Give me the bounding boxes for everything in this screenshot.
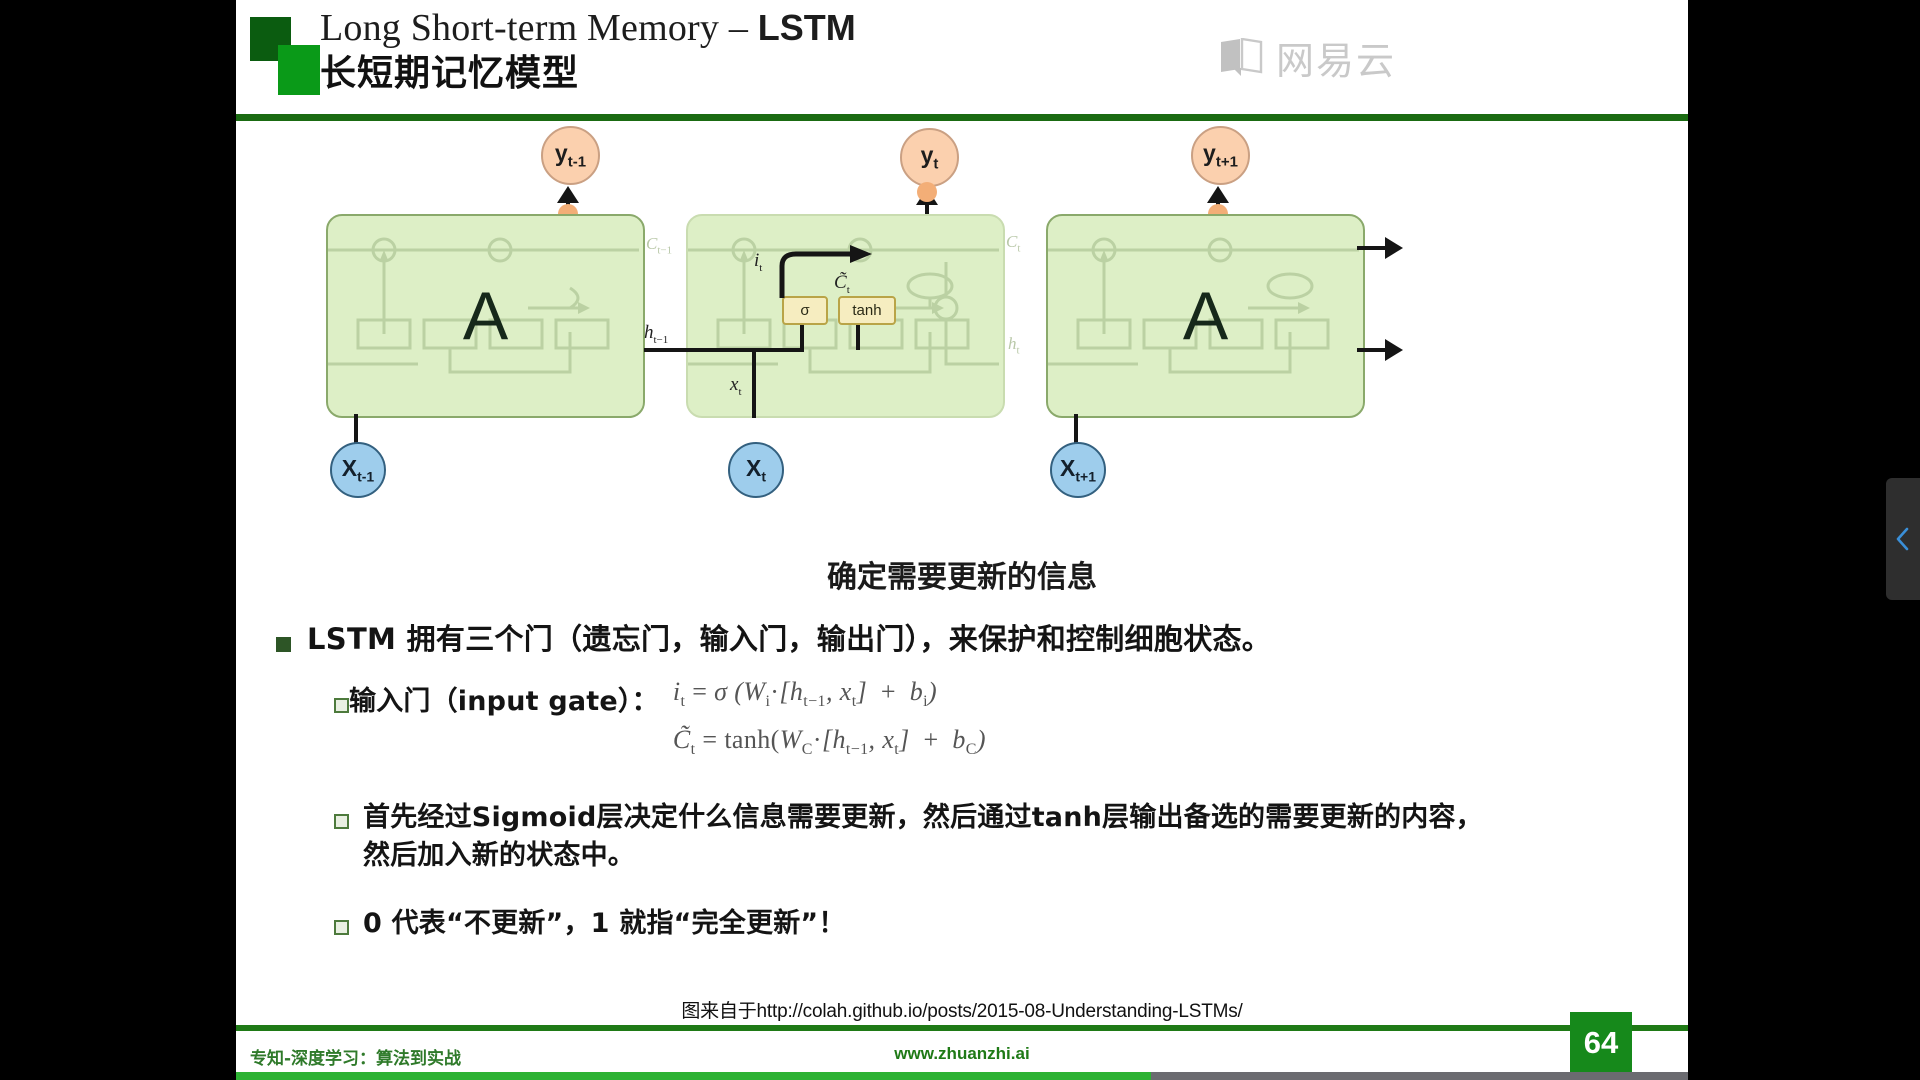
watermark-label: 网易云 — [1276, 30, 1396, 85]
label-i-t: it — [754, 250, 762, 274]
out-arrow-h — [1385, 339, 1403, 361]
line-x-t-plus-1 — [1074, 414, 1078, 444]
tanh-box-label: tanh — [852, 302, 881, 319]
label-c-tilde: C̃t — [834, 272, 850, 296]
watermark: 网易云 — [1218, 30, 1396, 85]
cell-label-t-plus-1: A — [1048, 216, 1363, 416]
logo-square-light — [278, 45, 320, 95]
arrow-up-y-t-1 — [557, 186, 579, 203]
output-node-label: yt — [921, 142, 939, 173]
header-divider — [236, 114, 1688, 121]
path-h-to-gate — [686, 348, 804, 352]
lstm-cell-t-1: A — [326, 214, 645, 418]
page-title-cn: 长短期记忆模型 — [320, 44, 579, 96]
join-dot-t — [917, 182, 937, 202]
progress-bar-track[interactable] — [236, 1072, 1688, 1080]
label-x-t: xt — [730, 374, 742, 398]
label-h-cur: ht — [1008, 334, 1020, 356]
lstm-diagram: yt-1 — [236, 126, 1688, 556]
bullet-zero-one: 0 代表“不更新”，1 就指“完全更新”！ — [334, 905, 1688, 943]
chevron-left-icon — [1895, 526, 1911, 552]
arrow-up-y-t-plus-1 — [1207, 186, 1229, 203]
input-node-label: Xt+1 — [1060, 455, 1096, 485]
bullet-square-icon — [276, 637, 291, 652]
path-x-down — [752, 366, 756, 418]
out-line-h — [1357, 348, 1385, 352]
slide-header: Long Short-term Memory – LSTM 长短期记忆模型 网易… — [236, 0, 1688, 122]
out-line-c — [1357, 246, 1385, 250]
label-c-prev: Ct−1 — [646, 234, 672, 256]
source-attribution: 图来自于http://colah.github.io/posts/2015-08… — [236, 996, 1688, 1023]
bullet-hollow-square-icon — [334, 920, 349, 935]
title-en-abbr: LSTM — [758, 7, 856, 48]
input-node-x-t-plus-1: Xt+1 — [1050, 442, 1106, 498]
input-node-label: Xt-1 — [342, 455, 374, 485]
output-node-label: yt+1 — [1203, 140, 1238, 171]
sidebar-toggle-handle[interactable] — [1886, 478, 1920, 600]
formula-i-t: it = σ (Wi·[ht−1, xt] + bi) — [673, 669, 986, 717]
bullet-hollow-square-icon — [334, 698, 349, 713]
output-node-y-t-1: yt-1 — [541, 126, 600, 185]
input-node-x-t-1: Xt-1 — [330, 442, 386, 498]
out-arrow-c — [1385, 237, 1403, 259]
slide-body: LSTM 拥有三个门（遗忘门，输入门，输出门），来保护和控制细胞状态。 输入门（… — [236, 620, 1688, 943]
bullet-hollow-square-icon — [334, 814, 349, 829]
bullet-input-gate-text: 输入门（input gate）： — [349, 683, 659, 721]
sigmoid-box-label: σ — [800, 302, 809, 319]
formula-group: it = σ (Wi·[ht−1, xt] + bi) C̃t = tanh(W… — [673, 669, 986, 765]
bullet-main: LSTM 拥有三个门（遗忘门，输入门，输出门），来保护和控制细胞状态。 — [276, 620, 1688, 659]
bullet-sigmoid-text: 首先经过Sigmoid层决定什么信息需要更新，然后通过tanh层输出备选的需要更… — [363, 799, 1504, 875]
formula-c-tilde: C̃t = tanh(WC·[ht−1, xt] + bC) — [673, 717, 986, 765]
title-en-text: Long Short-term Memory – — [320, 7, 758, 49]
book-icon — [1218, 38, 1265, 78]
bullet-zero-one-text: 0 代表“不更新”，1 就指“完全更新”！ — [363, 905, 846, 943]
slide-canvas: Long Short-term Memory – LSTM 长短期记忆模型 网易… — [236, 0, 1688, 1080]
bullet-input-gate: 输入门（input gate）： it = σ (Wi·[ht−1, xt] +… — [334, 683, 1688, 765]
footer-divider — [236, 1025, 1688, 1031]
lstm-cell-t-plus-1: A — [1046, 214, 1365, 418]
input-node-label: Xt — [746, 455, 766, 485]
bullet-sigmoid: 首先经过Sigmoid层决定什么信息需要更新，然后通过tanh层输出备选的需要更… — [334, 799, 1504, 875]
progress-bar-fill — [236, 1072, 1151, 1080]
footer-url: www.zhuanzhi.ai — [236, 1044, 1688, 1064]
input-node-x-t: Xt — [728, 442, 784, 498]
cell-label-t-1: A — [328, 216, 643, 416]
output-node-y-t-plus-1: yt+1 — [1191, 126, 1250, 185]
output-node-label: yt-1 — [555, 140, 586, 171]
line-x-t-1 — [354, 414, 358, 444]
page-number-badge: 64 — [1570, 1012, 1632, 1074]
label-h-prev: ht−1 — [644, 322, 668, 346]
label-c-cur: Ct — [1006, 232, 1020, 254]
screen: Long Short-term Memory – LSTM 长短期记忆模型 网易… — [0, 0, 1920, 1080]
diagram-caption: 确定需要更新的信息 — [236, 552, 1688, 596]
bullet-main-text: LSTM 拥有三个门（遗忘门，输入门，输出门），来保护和控制细胞状态。 — [307, 620, 1271, 659]
output-node-y-t: yt — [900, 128, 959, 187]
